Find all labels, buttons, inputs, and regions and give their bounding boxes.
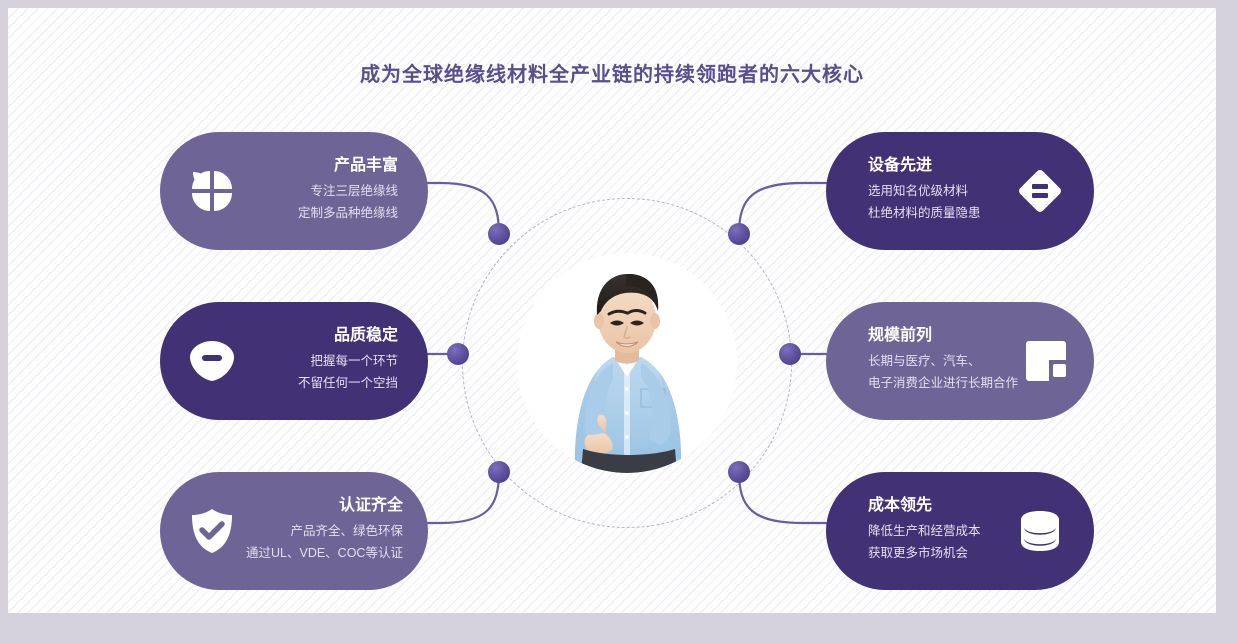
diamond-gem-icon [184,333,240,389]
card-line-1: 长期与医疗、汽车、 [868,351,981,373]
card-title: 品质稳定 [334,327,398,345]
feature-card-quality-stable[interactable]: 品质稳定 把握每一个环节 不留任何一个空挡 [160,302,428,420]
feature-card-equipment-advanced[interactable]: 设备先进 选用知名优级材料 杜绝材料的质量隐患 [826,132,1094,250]
card-line-1: 把握每一个环节 [310,351,398,373]
card-title: 认证齐全 [339,497,403,515]
card-title: 规模前列 [868,327,932,345]
card-title: 设备先进 [868,157,932,175]
four-petal-flower-icon [184,163,240,219]
card-text: 认证齐全 产品齐全、绿色环保 通过UL、VDE、COC等认证 [240,497,403,565]
card-line-2: 电子消费企业进行长期合作 [868,373,1018,395]
card-line-2: 通过UL、VDE、COC等认证 [246,543,403,565]
hub-node-right-bottom [728,461,750,483]
card-text: 设备先进 选用知名优级材料 杜绝材料的质量隐患 [868,157,1012,225]
card-line-2: 获取更多市场机会 [868,543,968,565]
card-line-2: 不留任何一个空挡 [298,373,398,395]
database-stack-icon [1012,503,1068,559]
diamond-bars-icon [1012,163,1068,219]
card-text: 产品丰富 专注三层绝缘线 定制多品种绝缘线 [240,157,398,225]
notched-square-icon [1018,333,1074,389]
feature-card-scale-leading[interactable]: 规模前列 长期与医疗、汽车、 电子消费企业进行长期合作 [826,302,1094,420]
content-canvas: 成为全球绝缘线材料全产业链的持续领跑者的六大核心 [8,8,1216,613]
card-text: 规模前列 长期与医疗、汽车、 电子消费企业进行长期合作 [868,327,1018,395]
card-line-2: 定制多品种绝缘线 [298,203,398,225]
infographic-root: 成为全球绝缘线材料全产业链的持续领跑者的六大核心 [0,0,1238,643]
card-line-1: 专注三层绝缘线 [310,181,398,203]
card-text: 成本领先 降低生产和经营成本 获取更多市场机会 [868,497,1012,565]
feature-card-certification-complete[interactable]: 认证齐全 产品齐全、绿色环保 通过UL、VDE、COC等认证 [160,472,428,590]
hub-node-right-middle [779,343,801,365]
feature-card-product-rich[interactable]: 产品丰富 专注三层绝缘线 定制多品种绝缘线 [160,132,428,250]
center-hub [462,198,792,528]
hub-node-right-top [728,223,750,245]
page-title: 成为全球绝缘线材料全产业链的持续领跑者的六大核心 [8,58,1216,87]
card-text: 品质稳定 把握每一个环节 不留任何一个空挡 [240,327,398,395]
card-line-1: 选用知名优级材料 [868,181,968,203]
shield-check-icon [184,503,240,559]
center-photo [517,253,737,473]
card-line-2: 杜绝材料的质量隐患 [868,203,981,225]
feature-card-cost-leading[interactable]: 成本领先 降低生产和经营成本 获取更多市场机会 [826,472,1094,590]
person-thumbs-up-illustration [517,253,737,473]
hub-node-left-top [488,223,510,245]
card-line-1: 产品齐全、绿色环保 [290,521,403,543]
card-title: 产品丰富 [334,157,398,175]
card-title: 成本领先 [868,497,932,515]
hub-node-left-middle [447,343,469,365]
hub-node-left-bottom [488,461,510,483]
card-line-1: 降低生产和经营成本 [868,521,981,543]
